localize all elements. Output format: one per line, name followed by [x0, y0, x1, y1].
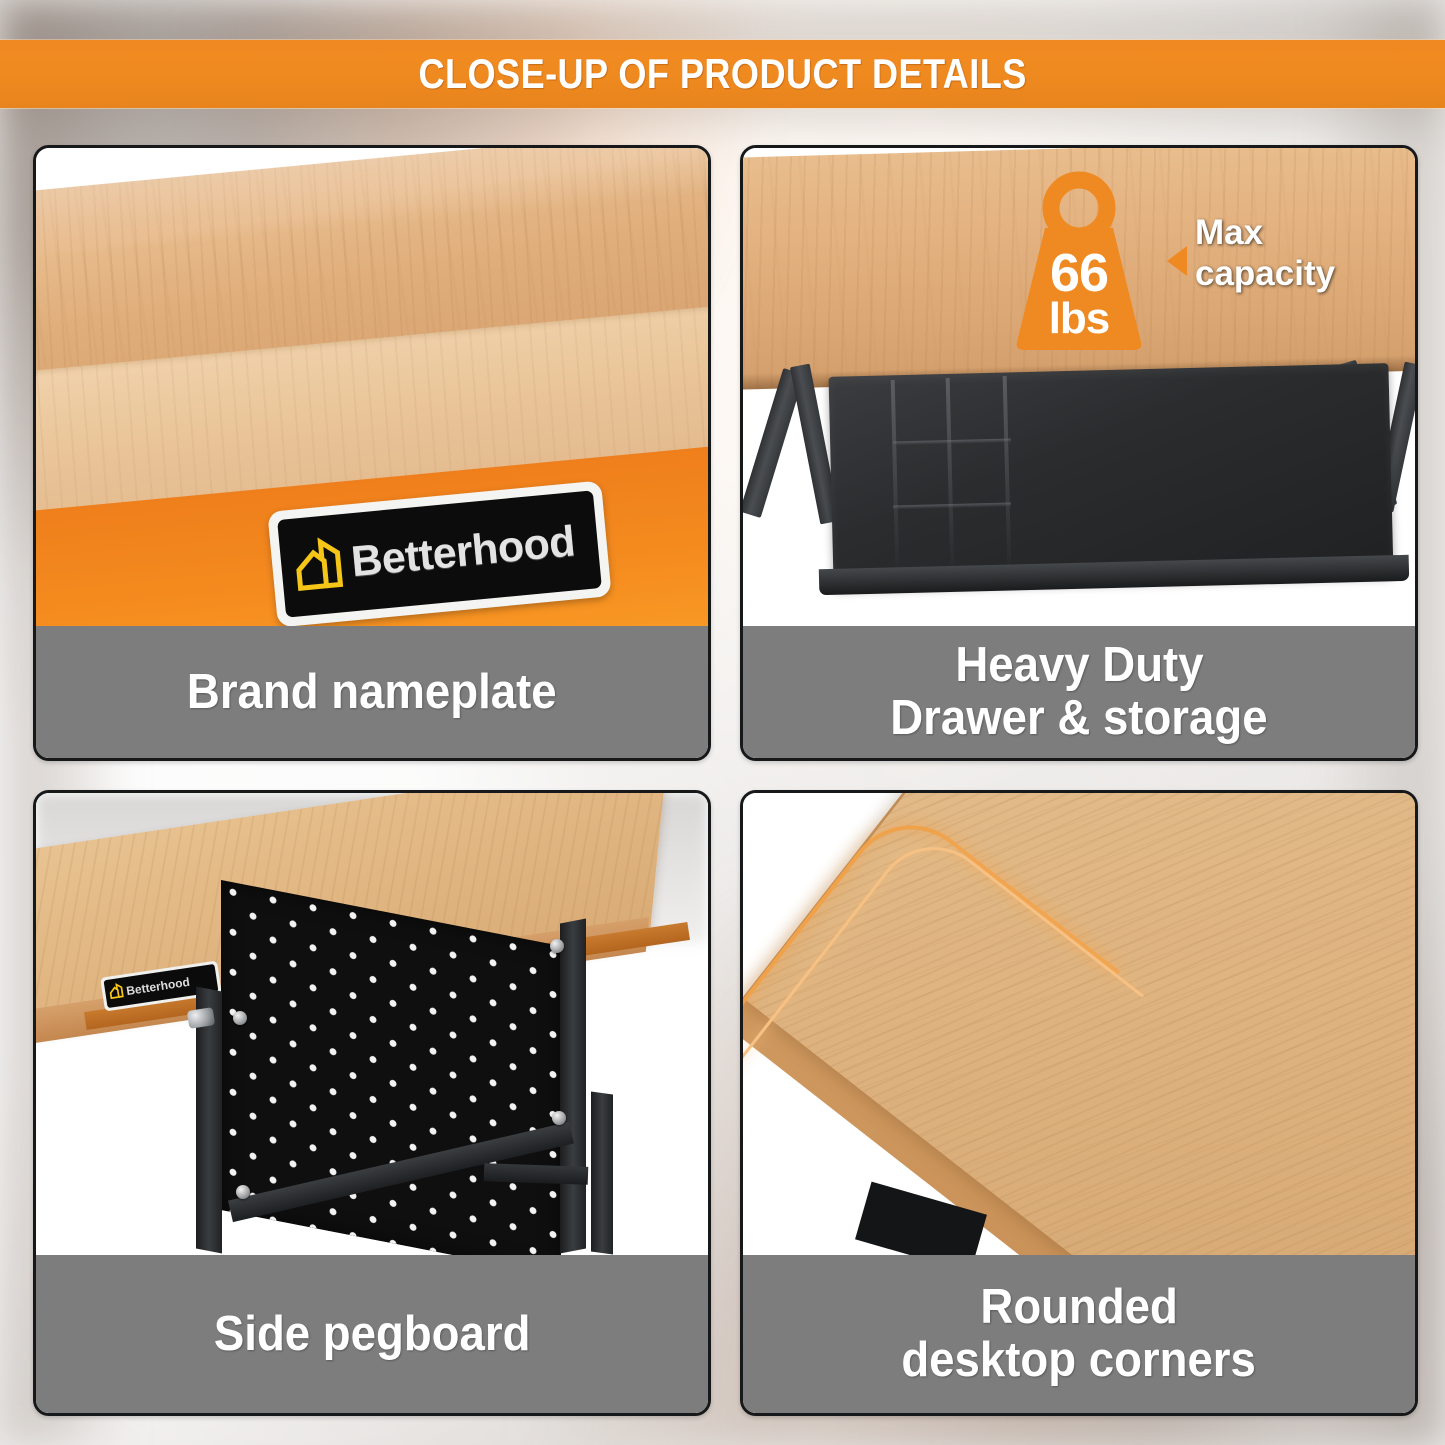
- screw-icon: [550, 939, 564, 953]
- callout-line-2: capacity: [1195, 253, 1335, 294]
- panel-2-photo: 66 lbs Max capacity: [743, 148, 1415, 626]
- screw-icon: [233, 1011, 247, 1025]
- panel-3-photo: Betterhood: [36, 793, 708, 1255]
- house-building-icon: [108, 981, 126, 1004]
- header-banner: CLOSE-UP OF PRODUCT DETAILS: [0, 40, 1445, 108]
- weight-icon: 66 lbs: [1011, 170, 1147, 352]
- bench-leg: [560, 918, 586, 1253]
- panel-4-caption: Rounded desktop corners: [743, 1255, 1415, 1413]
- caption-line: desktop corners: [902, 1334, 1257, 1387]
- callout-line-1: Max: [1195, 212, 1335, 253]
- panel-1-photo: Betterhood: [36, 148, 708, 626]
- caption-line: Rounded: [980, 1281, 1177, 1334]
- page-title: CLOSE-UP OF PRODUCT DETAILS: [418, 50, 1026, 98]
- infographic-page: CLOSE-UP OF PRODUCT DETAILS Betterhood: [0, 0, 1445, 1445]
- triangle-left-icon: [1167, 246, 1187, 276]
- panel-1-caption: Brand nameplate: [36, 626, 708, 758]
- weight-unit: lbs: [1011, 294, 1147, 344]
- panel-side-pegboard: Betterhood Side pegboard: [33, 790, 711, 1416]
- panel-3-caption: Side pegboard: [36, 1255, 708, 1413]
- panel-brand-nameplate: Betterhood Brand nameplate: [33, 145, 711, 761]
- caption-line: Side pegboard: [214, 1308, 531, 1361]
- house-building-icon: [292, 533, 349, 597]
- caption-line: Brand nameplate: [187, 666, 557, 719]
- brand-name-text: Betterhood: [349, 517, 577, 587]
- caption-line: Drawer & storage: [890, 692, 1267, 745]
- panel-rounded-corners: Rounded desktop corners: [740, 790, 1418, 1416]
- storage-drawer: [829, 363, 1394, 587]
- max-capacity-callout: Max capacity: [1195, 212, 1335, 295]
- panel-4-photo: [743, 793, 1415, 1255]
- caption-line: Heavy Duty: [955, 639, 1203, 692]
- panel-heavy-duty-drawer: 66 lbs Max capacity Heavy Duty Drawer & …: [740, 145, 1418, 761]
- screw-icon: [552, 1111, 566, 1125]
- horizontal-brace: [484, 1163, 589, 1185]
- bench-leg: [591, 1091, 613, 1254]
- screw-icon: [236, 1185, 250, 1199]
- nameplate-inner: Betterhood: [277, 490, 602, 617]
- brand-name-text: Betterhood: [125, 975, 190, 998]
- panel-2-caption: Heavy Duty Drawer & storage: [743, 626, 1415, 758]
